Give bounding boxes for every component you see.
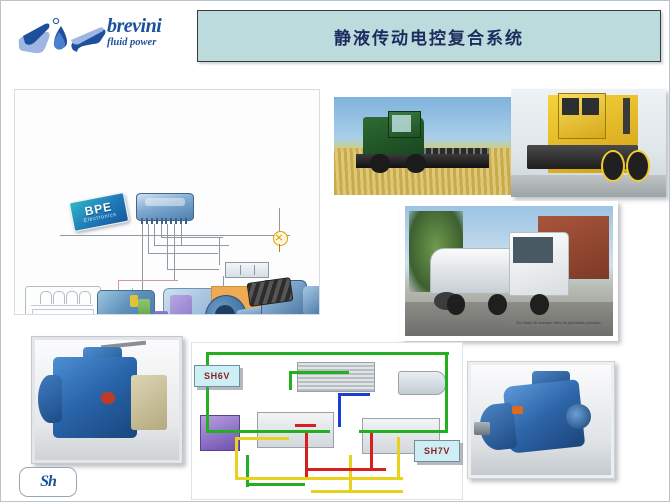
harness-wire: [181, 245, 229, 246]
harness-wire: [148, 224, 149, 254]
variable-pump-photo: [31, 336, 183, 464]
circuit-label-sh6v: SH6V: [194, 365, 240, 387]
ecu-icon: [136, 193, 194, 221]
photo-caption: Eco Matic 4K sweeper offers its hydrosta…: [517, 321, 601, 326]
brevini-logo: brevini fluid power: [15, 12, 191, 62]
harness-wire: [174, 224, 175, 280]
return-line: [206, 352, 449, 355]
page-title: 静液传动电控复合系统: [334, 24, 524, 49]
high-pressure-line: [305, 468, 386, 471]
return-line: [246, 455, 249, 486]
drain-line: [338, 393, 370, 396]
oil-cooler-icon: [297, 362, 375, 392]
sh-brand-logo: Sh: [19, 467, 77, 497]
warning-lamp-icon: [273, 231, 288, 246]
charge-line: [235, 437, 238, 481]
motor-grader-photo: [511, 89, 666, 197]
slide-title-box: 静液传动电控复合系统: [197, 10, 661, 62]
high-pressure-line: [370, 433, 373, 470]
combine-harvester-photo: [334, 97, 514, 195]
directional-valve-icon: [225, 262, 269, 278]
reservoir-tank-icon: [398, 371, 446, 395]
slide-canvas: brevini fluid power 静液传动电控复合系统 BPE Elect…: [0, 0, 670, 502]
charge-line: [397, 437, 400, 481]
brand-tagline: fluid power: [107, 37, 195, 49]
brevini-waterdrop-logo-icon: [15, 16, 111, 58]
harness-wire: [181, 224, 182, 246]
charge-line: [235, 477, 402, 480]
lamp-stem: [279, 244, 280, 252]
charge-line: [311, 490, 403, 493]
circuit-label-sh7v: SH7V: [414, 440, 460, 462]
harness-wire: [219, 237, 220, 265]
harness-wire: [161, 224, 162, 238]
return-line: [289, 371, 348, 374]
charge-line: [349, 455, 352, 489]
street-sweeper-truck-photo: Eco Matic 4K sweeper offers its hydrosta…: [400, 201, 618, 341]
sh6v-label-text: SH6V: [204, 371, 230, 381]
return-line: [246, 483, 305, 486]
brevini-wordmark: brevini fluid power: [107, 16, 195, 49]
hydrostatic-transmission-schematic: BPE Electronics: [14, 89, 320, 315]
harness-wire: [161, 237, 223, 238]
pressure-hose: [118, 280, 178, 281]
charge-line: [235, 437, 289, 440]
return-line: [206, 430, 330, 433]
brand-name: brevini: [107, 16, 195, 36]
return-line: [445, 352, 448, 433]
harness-wire: [148, 253, 218, 254]
sh-logo-text: Sh: [40, 473, 56, 491]
diesel-engine-icon: [25, 286, 101, 315]
high-pressure-line: [295, 424, 317, 427]
harness-wire: [167, 224, 168, 270]
sh7v-label-text: SH7V: [424, 446, 450, 456]
drain-line: [338, 393, 341, 427]
differential-icon: [303, 286, 320, 315]
harness-wire: [154, 224, 155, 246]
variable-pump-icon: [97, 290, 155, 315]
variable-motor-photo: [467, 361, 615, 479]
bpe-electronics-badge: BPE Electronics: [69, 192, 130, 232]
